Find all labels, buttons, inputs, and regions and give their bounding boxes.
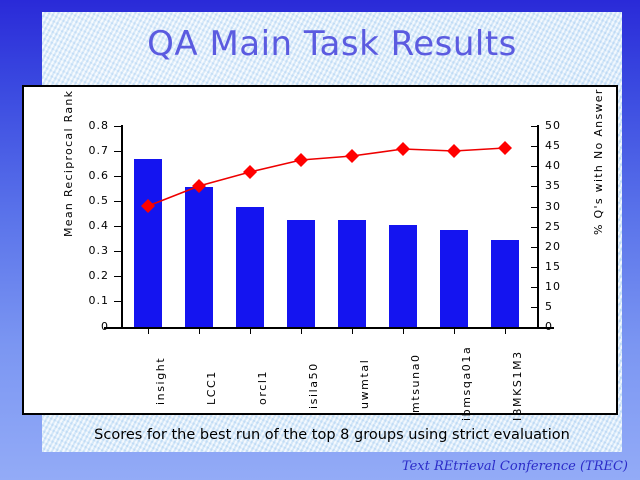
line-path — [148, 148, 505, 206]
slide-footer: Text REtrieval Conference (TREC) — [402, 459, 628, 474]
line-series-no-answer — [24, 87, 616, 413]
slide: QA Main Task Results Mean Reciprocal Ran… — [0, 0, 640, 480]
line-markers — [141, 141, 512, 213]
chart-plot-area: Mean Reciprocal Rank % Q's with No Answe… — [24, 87, 616, 413]
page-title: QA Main Task Results — [42, 18, 622, 70]
chart-container: Mean Reciprocal Rank % Q's with No Answe… — [22, 85, 618, 415]
slide-caption: Scores for the best run of the top 8 gro… — [42, 420, 622, 450]
